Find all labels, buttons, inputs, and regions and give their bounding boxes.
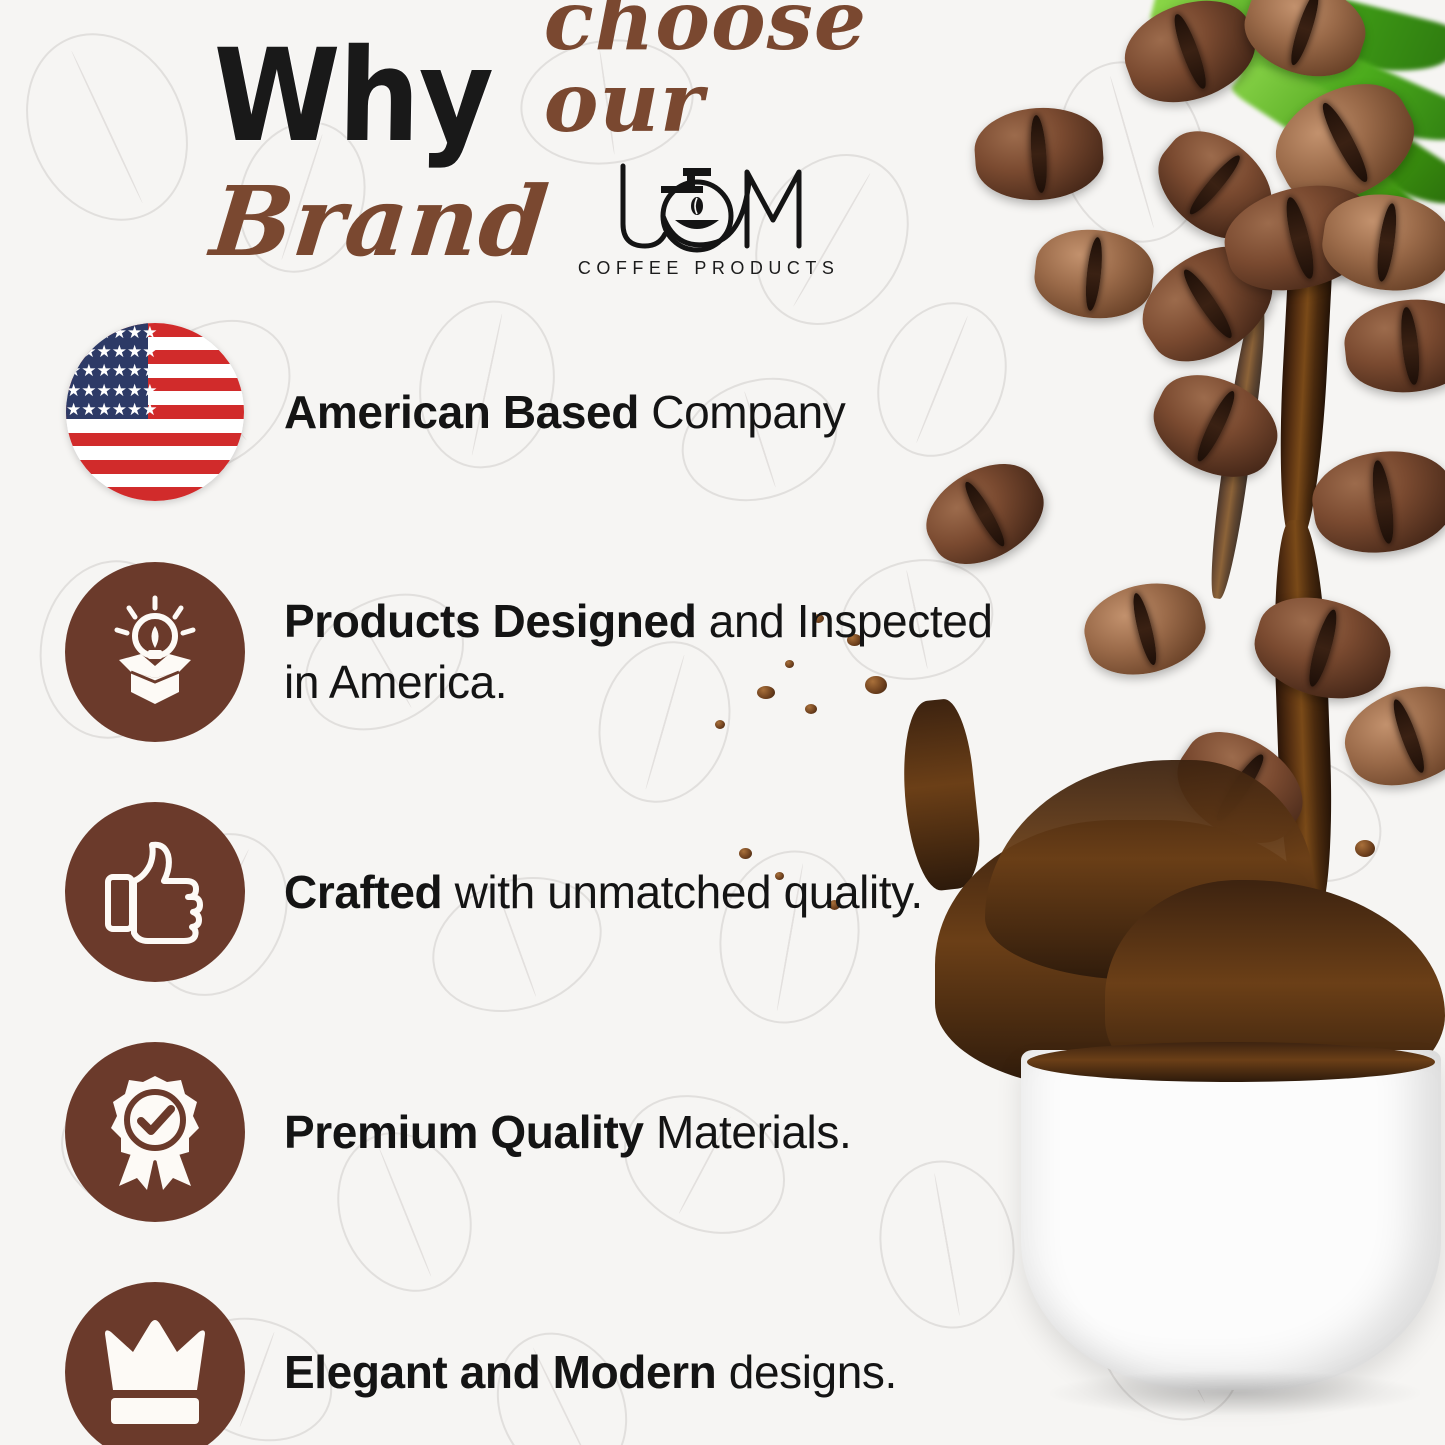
feature-icon: ★★★★★★ ★★★★★★ ★★★★★★ ★★★★★★ ★★★★★★ (60, 317, 250, 507)
coffee-bean (1307, 443, 1445, 562)
leaf-icon (1229, 43, 1445, 228)
feature-list: ★★★★★★ ★★★★★★ ★★★★★★ ★★★★★★ ★★★★★★ Ameri… (60, 292, 1020, 1445)
feature-text-bold: American Based (284, 386, 639, 438)
feature-text-rest: Company (639, 386, 845, 438)
coffee-droplet (1175, 880, 1191, 894)
feature-text-bold: Crafted (284, 866, 442, 918)
coffee-bean (1140, 112, 1290, 258)
coffee-bean (1341, 293, 1445, 398)
feature-row: Premium Quality Materials. (60, 1012, 1020, 1252)
feature-text: Elegant and Modern designs. (250, 1342, 1020, 1403)
coffee-bean (1333, 671, 1445, 801)
coffee-bean (1076, 572, 1214, 686)
feature-text-bold: Premium Quality (284, 1106, 644, 1158)
coffee-cup-logo-icon (601, 160, 816, 256)
feature-text-rest: designs. (716, 1346, 897, 1398)
crown-icon (65, 1282, 245, 1445)
coffee-surface (1027, 1042, 1435, 1082)
coffee-bean (1259, 63, 1432, 221)
heading-script-line2: Brand (207, 174, 553, 270)
coffee-splash (985, 760, 1315, 980)
coffee-pour-stream (1270, 519, 1336, 921)
coffee-bean (1031, 224, 1158, 324)
award-badge-icon (65, 1042, 245, 1222)
feature-row: Elegant and Modern designs. (60, 1252, 1020, 1445)
feature-text: Crafted with unmatched quality. (250, 862, 1020, 923)
coffee-bean (1215, 171, 1385, 304)
coffee-bean (1244, 583, 1400, 712)
coffee-bean (1317, 187, 1445, 299)
infographic-canvas: Why choose our Brand (0, 0, 1445, 1445)
logo-tagline: COFFEE PRODUCTS (578, 258, 840, 279)
coffee-bean (1124, 226, 1291, 383)
feature-icon (60, 1277, 250, 1445)
feature-text: Premium Quality Materials. (250, 1102, 1020, 1163)
leaf-icon (1183, 0, 1445, 166)
coffee-pour-stream (1274, 119, 1340, 541)
coffee-pour-stream (1204, 300, 1271, 601)
coffee-splash (1105, 880, 1445, 1110)
thumbs-up-icon (65, 802, 245, 982)
feature-row: Products Designed and Inspected in Ameri… (60, 532, 1020, 772)
feature-row: ★★★★★★ ★★★★★★ ★★★★★★ ★★★★★★ ★★★★★★ Ameri… (60, 292, 1020, 532)
coffee-bean (1113, 0, 1268, 118)
feature-row: Crafted with unmatched quality. (60, 772, 1020, 1012)
heading-script-line1: choose our (544, 0, 1032, 158)
coffee-bean (1139, 357, 1292, 494)
coffee-cup (1021, 1050, 1441, 1390)
feature-text: Products Designed and Inspected in Ameri… (250, 591, 1020, 712)
feature-text-bold: Elegant and Modern (284, 1346, 716, 1398)
coffee-droplet (1213, 918, 1225, 929)
lightbulb-box-icon (65, 562, 245, 742)
feature-text-rest: Materials. (644, 1106, 852, 1158)
heading-emphasis: Why (212, 36, 493, 158)
leaf-icon (1284, 111, 1445, 275)
feature-icon (60, 797, 250, 987)
us-flag-icon: ★★★★★★ ★★★★★★ ★★★★★★ ★★★★★★ ★★★★★★ (66, 323, 244, 501)
feature-text: American Based Company (250, 382, 1020, 443)
feature-icon (60, 557, 250, 747)
brand-logo: COFFEE PRODUCTS (578, 160, 840, 279)
coffee-droplet (1355, 840, 1375, 857)
coffee-bean (1234, 0, 1376, 90)
cup-shadow (1045, 1370, 1425, 1416)
coffee-bean (1160, 712, 1321, 863)
leaf-icon (1149, 0, 1445, 95)
heading-block: Why choose our Brand (212, 8, 1032, 282)
feature-icon (60, 1037, 250, 1227)
feature-text-bold: Products Designed (284, 595, 696, 647)
feature-text-rest: with unmatched quality. (442, 866, 922, 918)
